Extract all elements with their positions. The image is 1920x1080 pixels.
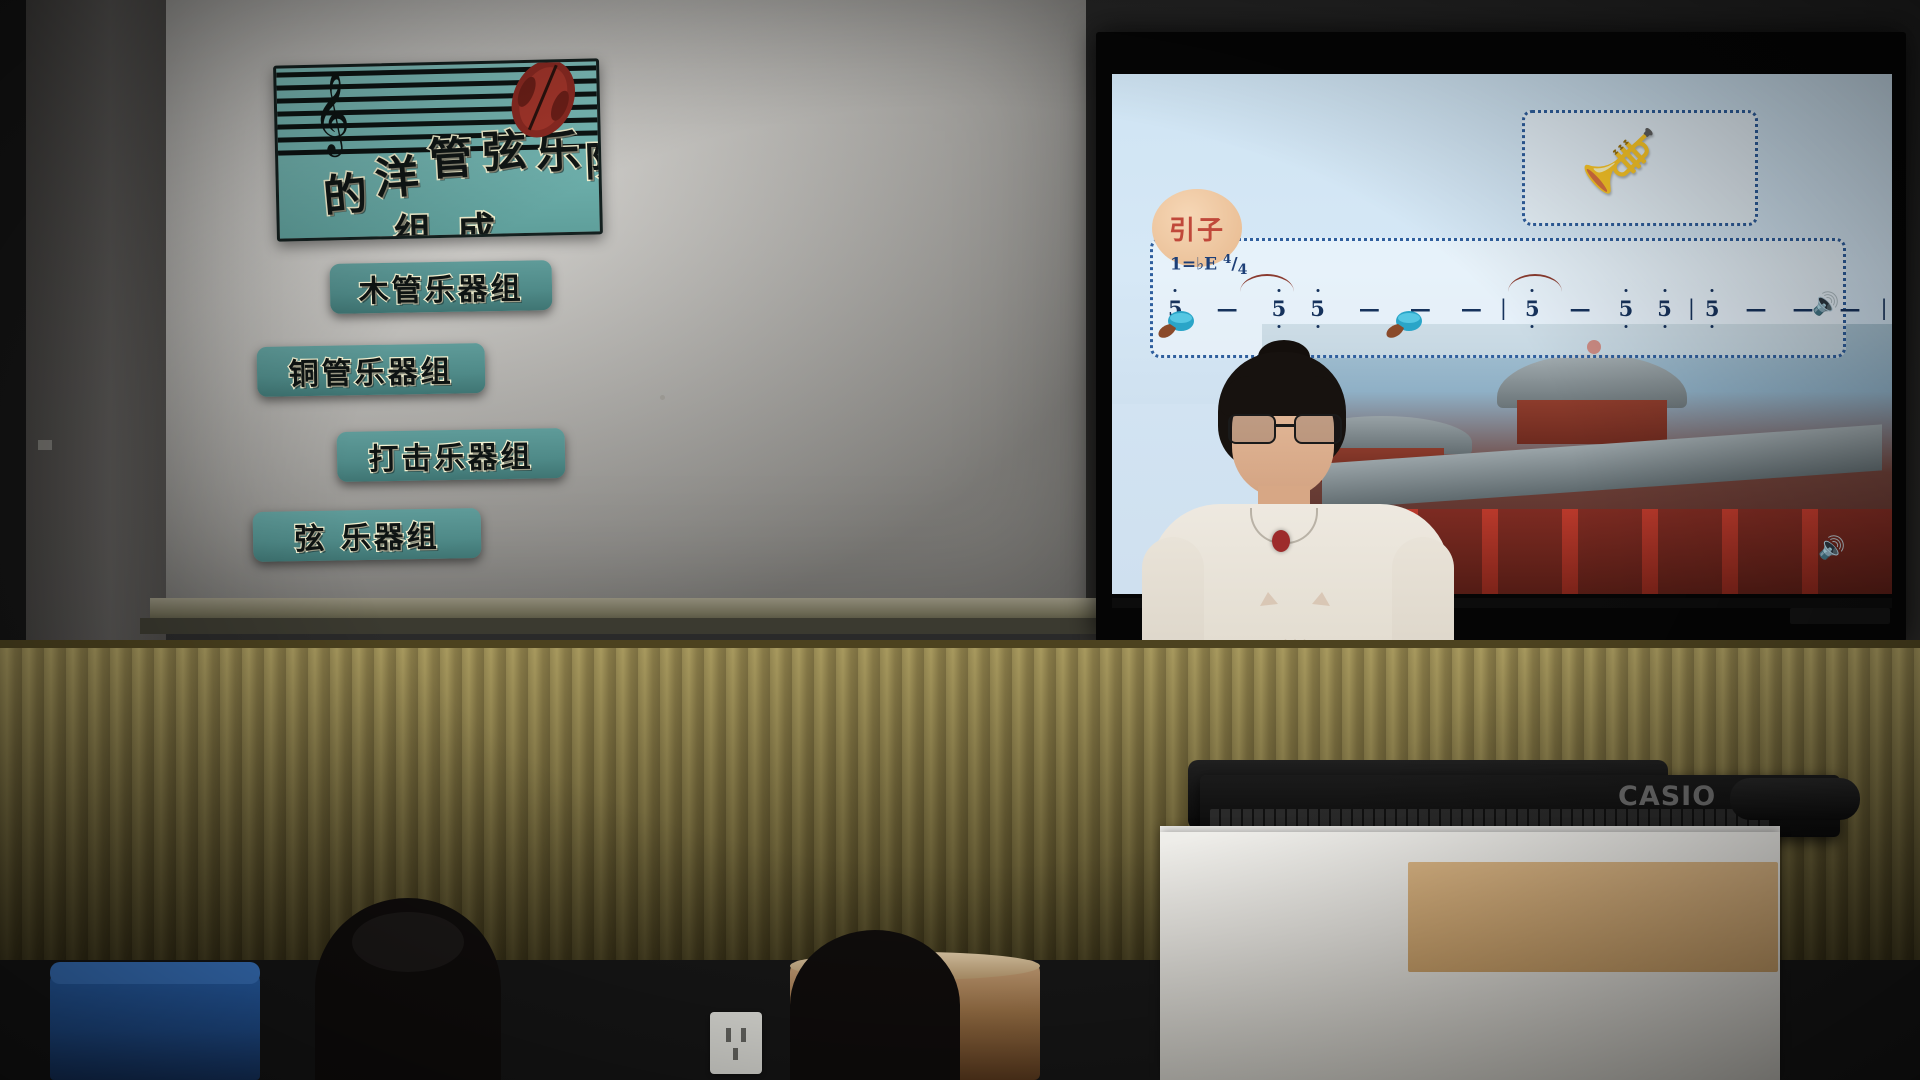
note-12: — — [1746, 296, 1767, 321]
note-7: 5 — [1525, 296, 1540, 321]
note-11: 5 — [1705, 296, 1720, 321]
orchestra-title-poster: 𝄞 的 洋 管 弦 乐 队 组 成 — [273, 58, 603, 241]
note-3: 5 — [1310, 296, 1325, 321]
poster-char-1: 洋 — [372, 140, 421, 207]
card-string-group: 弦 乐器组 — [253, 508, 482, 562]
wall-power-outlet[interactable] — [710, 1012, 762, 1074]
podium-wood-panel — [1408, 862, 1778, 972]
card-label-woodwind: 木管乐器组 — [358, 264, 524, 311]
note-4: — — [1359, 296, 1380, 321]
key-signature-prefix: 1= — [1170, 255, 1196, 275]
time-signature-numerator: 4 — [1223, 252, 1231, 266]
keyboard-end-cap — [1730, 778, 1860, 820]
poster-char-0: 的 — [320, 157, 370, 225]
pendant — [1272, 530, 1290, 552]
glasses-icon — [1228, 414, 1340, 440]
display-stand-foot — [1790, 608, 1890, 624]
poster-char-2: 管 — [426, 122, 474, 188]
card-percussion-group: 打击乐器组 — [337, 428, 566, 482]
speaker-audio-icon-lower[interactable]: 🔊 — [1818, 536, 1845, 561]
student-head-right — [790, 930, 960, 1080]
poster-char-5: 队 — [583, 128, 603, 188]
card-woodwind-group: 木管乐器组 — [330, 260, 553, 314]
keyboard-brand-logo: CASIO — [1618, 781, 1716, 812]
teacher-hair-front — [1220, 376, 1344, 416]
wall-left-edge — [0, 0, 26, 650]
time-signature-denominator: 4 — [1238, 262, 1248, 278]
note-13: — — [1793, 296, 1814, 321]
blue-stool-seat — [50, 962, 260, 984]
note-1: — — [1217, 296, 1238, 321]
whiteboard-mark-secondary — [38, 440, 52, 450]
blue-stool — [50, 968, 260, 1080]
wall-left-panel — [26, 0, 166, 650]
barline-2: | — [1881, 296, 1888, 320]
section-label-text: 引子 — [1169, 210, 1225, 247]
key-signature: 1=♭E 4/4 — [1170, 252, 1247, 278]
french-horn-icon: 🎺 — [1580, 130, 1657, 192]
poster-subtitle: 组 成 — [393, 200, 501, 242]
speaker-audio-icon-upper[interactable]: 🔊 — [1812, 292, 1839, 317]
barline-0: | — [1500, 296, 1507, 320]
card-label-brass: 铜管乐器组 — [288, 347, 454, 394]
barline-1: | — [1688, 296, 1695, 320]
classroom-scene: 𝄞 的 洋 管 弦 乐 队 组 成 木管乐器组 铜管乐器组 打击乐器组 弦 — [0, 0, 1920, 1080]
whiteboard-mark — [660, 395, 665, 400]
note-9: 5 — [1619, 296, 1634, 321]
student-head-left-highlight — [352, 912, 464, 972]
card-label-percussion: 打击乐器组 — [368, 432, 534, 479]
note-6: — — [1461, 296, 1482, 321]
note-10: 5 — [1657, 296, 1672, 321]
card-brass-group: 铜管乐器组 — [257, 343, 486, 397]
note-8: — — [1570, 296, 1591, 321]
note-2: 5 — [1272, 296, 1287, 321]
numbered-notation-row: 5 — 5 5 — — — | 5 — 5 5 | 5 — — — | — [1168, 286, 1828, 330]
ocarina-whistle-icon-right — [1382, 310, 1424, 340]
key-signature-note: ♭E — [1196, 255, 1217, 275]
note-14: — — [1840, 296, 1861, 321]
whiteboard-tray — [140, 618, 1105, 634]
card-label-string: 弦 乐器组 — [294, 512, 440, 559]
ocarina-whistle-icon-left — [1154, 310, 1196, 340]
